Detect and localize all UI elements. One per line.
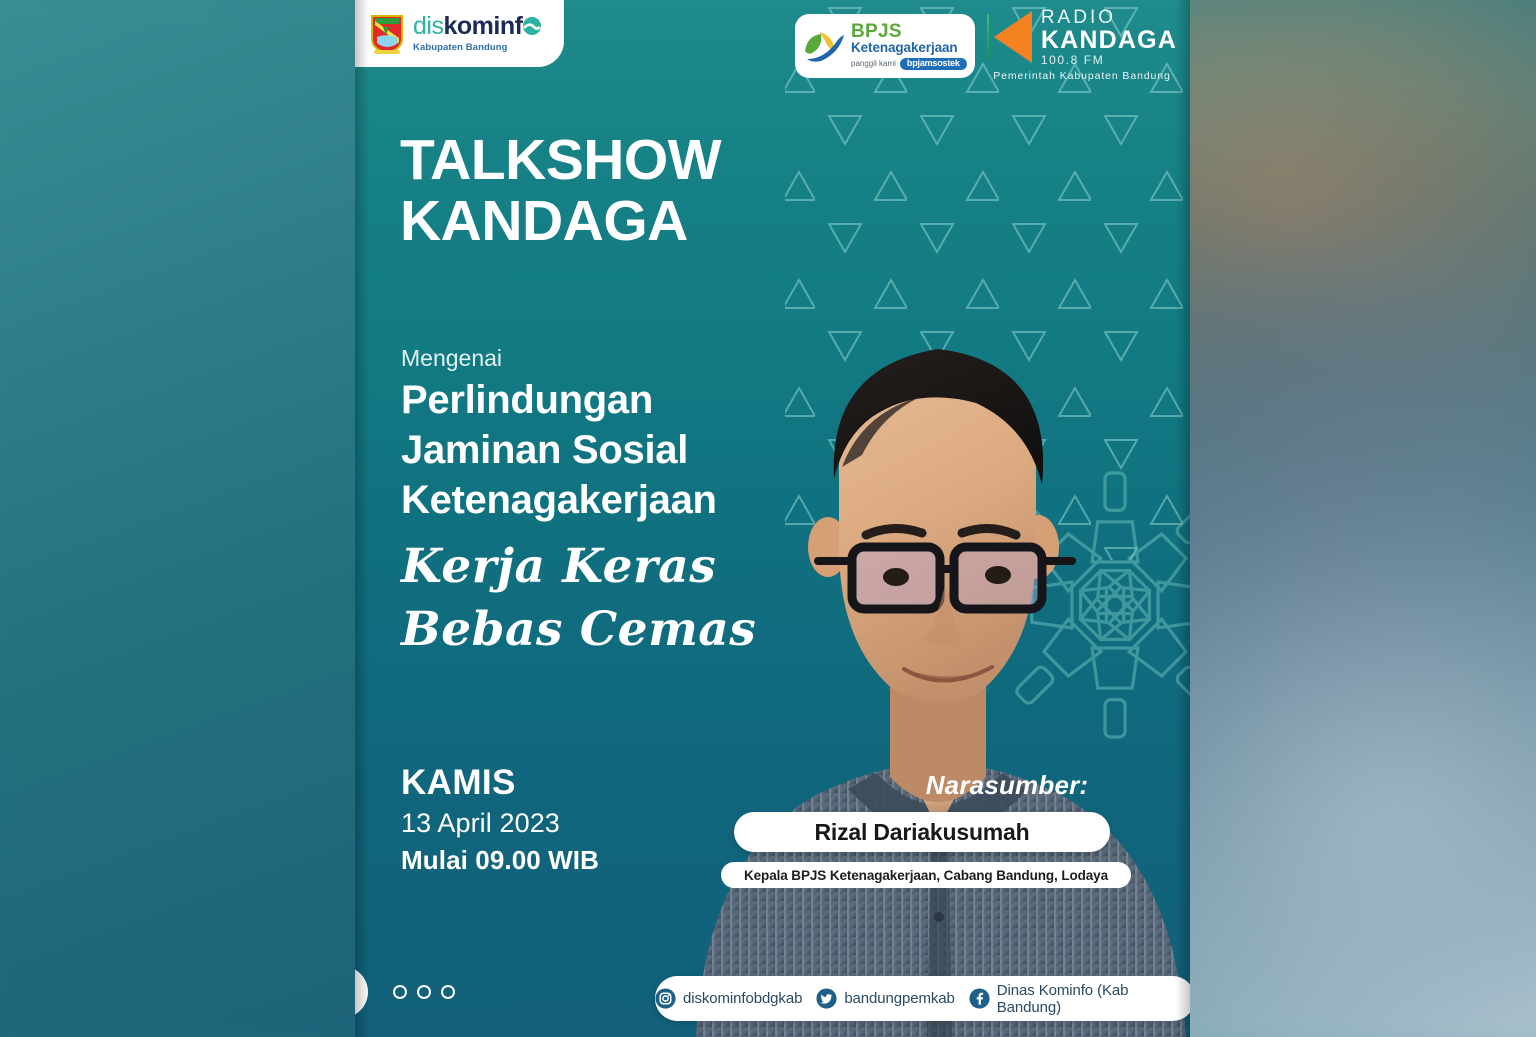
topic-line-2: Jaminan Sosial [401,425,717,475]
topic-prefix: Mengenai [401,345,502,372]
radio-government-line: Pemerintah Kabupaten Bandung [987,70,1177,82]
slogan-line-1: Kerja Keras [401,535,756,598]
kabupaten-bandung-crest-icon [369,13,405,55]
instagram-icon [655,988,676,1009]
radio-frequency: 100.8 FM [1041,54,1177,66]
social-facebook[interactable]: Dinas Kominfo (Kab Bandung) [969,982,1190,1016]
topic-line-3: Ketenagakerjaan [401,475,717,525]
carousel-dot[interactable] [417,985,431,999]
schedule-block: KAMIS 13 April 2023 Mulai 09.00 WIB [401,763,599,876]
bpjs-leaf-swoosh-icon [803,29,845,63]
facebook-icon [969,988,990,1009]
poster-canvas: diskominf Kabupaten Bandung BPJS Ketenag… [355,0,1190,1037]
social-footer-bar: diskominfobdgkab bandungpemkab Dinas Kom… [655,976,1190,1021]
carousel-dot[interactable] [441,985,455,999]
radio-green-bar-icon [987,14,989,60]
twitter-handle: bandungpemkab [844,990,954,1007]
topic-title: Perlindungan Jaminan Sosial Ketenagakerj… [401,375,717,525]
diskominfo-wordmark: diskominf [413,14,542,41]
half-disc-decoration [355,966,368,1018]
schedule-day: KAMIS [401,763,599,803]
radio-name: KANDAGA [1041,28,1177,53]
topic-line-1: Perlindungan [401,375,717,425]
bpjs-tagline: panggil kami [851,60,896,68]
radio-play-triangle-icon [994,11,1032,63]
schedule-time: Mulai 09.00 WIB [401,845,599,876]
schedule-date: 13 April 2023 [401,808,599,839]
carousel-dot[interactable] [393,985,407,999]
twitter-bird-icon [816,988,837,1009]
social-instagram[interactable]: diskominfobdgkab [655,988,802,1009]
diskominfo-wordmark-dis: dis [413,12,443,40]
topic-slogan: Kerja Keras Bebas Cemas [401,535,756,662]
diskominfo-wordmark-kominfo: kominf [443,12,522,40]
speaker-label: Narasumber: [852,770,1162,801]
instagram-handle: diskominfobdgkab [683,990,802,1007]
wave-globe-icon [522,16,542,41]
speaker-role: Kepala BPJS Ketenagakerjaan, Cabang Band… [721,862,1131,888]
slogan-line-2: Bebas Cemas [401,598,756,661]
bpjs-title: BPJS [851,22,967,41]
headline-line-2: KANDAGA [400,191,721,252]
carousel-dots[interactable] [393,985,455,999]
bpjs-logo-card: BPJS Ketenagakerjaan panggil kami bpjams… [795,14,975,78]
radio-label: RADIO [1041,8,1177,27]
diskominfo-subtitle: Kabupaten Bandung [413,43,542,53]
facebook-handle: Dinas Kominfo (Kab Bandung) [997,982,1190,1016]
radio-kandaga-logo: RADIO KANDAGA 100.8 FM Pemerintah Kabupa… [987,8,1177,88]
social-twitter[interactable]: bandungpemkab [816,988,954,1009]
diskominfo-logo-card: diskominf Kabupaten Bandung [355,0,564,67]
bpjamsostek-pill: bpjamsostek [900,58,967,70]
page-title: TALKSHOW KANDAGA [400,130,721,252]
bpjs-subtitle: Ketenagakerjaan [851,41,967,55]
speaker-name: Rizal Dariakusumah [734,812,1110,852]
headline-line-1: TALKSHOW [400,130,721,191]
